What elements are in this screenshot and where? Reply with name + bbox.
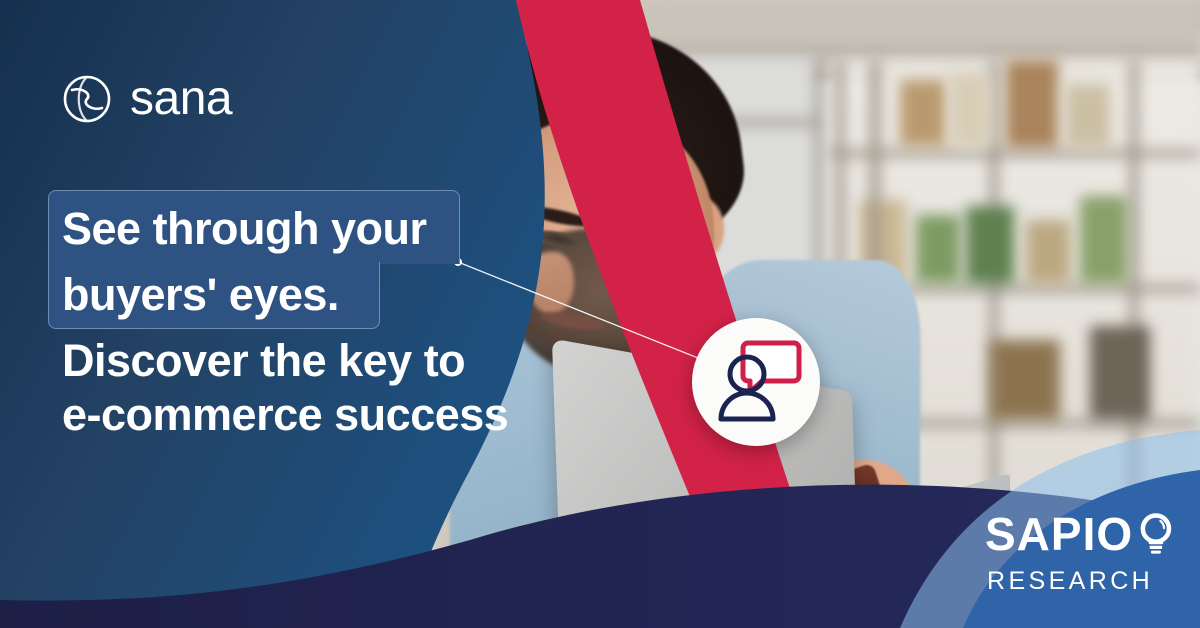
sapio-wordmark: SAPIO <box>985 511 1133 557</box>
sana-wordmark: sana <box>130 75 232 123</box>
sapio-subtitle: RESEARCH <box>987 569 1175 594</box>
headline-line-2: buyers' eyes. <box>62 262 339 328</box>
headline-line-3: Discover the key to <box>62 332 465 390</box>
sana-logo[interactable]: sana <box>62 74 232 124</box>
insight-badge[interactable] <box>692 318 820 446</box>
headline-line-1: See through your <box>62 196 427 262</box>
headline-line-4: e-commerce success <box>62 386 508 444</box>
lightbulb-icon <box>1137 508 1175 560</box>
promo-banner: See through your buyers' eyes. Discover … <box>0 0 1200 628</box>
person-body-icon <box>721 393 773 419</box>
sapio-research-logo[interactable]: SAPIO RESEARCH <box>985 508 1175 594</box>
badge-graphic <box>692 318 820 446</box>
sana-globe-icon <box>62 74 112 124</box>
speech-bubble-icon <box>743 343 799 392</box>
